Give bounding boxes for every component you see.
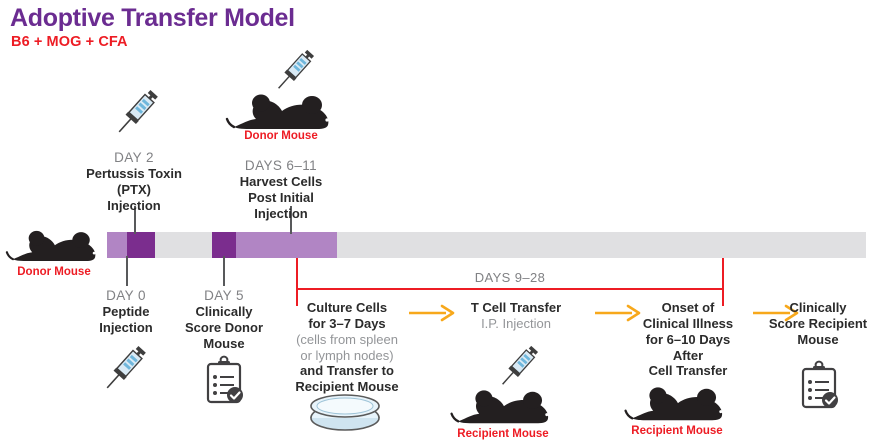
timeline-track [107, 232, 866, 258]
flow-arrow-1 [408, 303, 456, 323]
bracket-crossbar [296, 288, 724, 290]
event-onset-line4: After [626, 348, 750, 364]
mouse-label-donor-start: Donor Mouse [4, 266, 104, 278]
event-score-recipient: Clinically Score Recipient Mouse [768, 300, 868, 348]
event-days611-line1: Harvest Cells [221, 174, 341, 190]
event-culture-note2: or lymph nodes) [288, 348, 406, 364]
event-day5-line1: Clinically [173, 304, 275, 320]
event-transfer-note1: I.P. Injection [452, 316, 580, 332]
event-day2-line2: (PTX) [64, 182, 204, 198]
event-day0-day: DAY 0 [76, 288, 176, 304]
syringe-icon-transfer [496, 340, 540, 392]
event-day5: DAY 5 Clinically Score Donor Mouse [173, 288, 275, 352]
event-day2-line3: Injection [64, 198, 204, 214]
event-day0: DAY 0 Peptide Injection [76, 288, 176, 336]
mouse-icon-recipient-1 [450, 388, 556, 428]
event-onset-line1: Onset of [626, 300, 750, 316]
timeline-segment-light-2 [236, 232, 337, 258]
event-culture-line2: for 3–7 Days [288, 316, 406, 332]
clipboard-check-icon-day5 [203, 355, 245, 405]
mouse-label-recipient-1: Recipient Mouse [450, 428, 556, 440]
event-score-recipient-line3: Mouse [768, 332, 868, 348]
bracket-left-arm [296, 258, 298, 306]
syringe-icon-day2 [112, 84, 160, 140]
mouse-icon-donor-start [6, 228, 102, 266]
page-subtitle: B6 + MOG + CFA [11, 34, 128, 50]
event-day2-day: DAY 2 [64, 150, 204, 166]
timeline-segment-dark-day2 [127, 232, 155, 258]
mouse-label-donor-top: Donor Mouse [226, 130, 336, 142]
page-title: Adoptive Transfer Model [10, 4, 295, 33]
mouse-label-recipient-2: Recipient Mouse [624, 425, 730, 437]
event-culture-note1: (cells from spleen [288, 332, 406, 348]
event-onset-line3: for 6–10 Days [626, 332, 750, 348]
event-days611-line3: Injection [221, 206, 341, 222]
event-score-recipient-line1: Clinically [768, 300, 868, 316]
petri-dish-icon [306, 392, 384, 434]
clipboard-check-icon-recipient [798, 360, 840, 410]
bracket-label: DAYS 9–28 [467, 270, 554, 285]
event-day5-line3: Mouse [173, 336, 275, 352]
bracket-right-arm [722, 258, 724, 306]
event-culture-line3: and Transfer to [288, 363, 406, 379]
event-days611-line2: Post Initial [221, 190, 341, 206]
event-onset: Onset of Clinical Illness for 6–10 Days … [626, 300, 750, 379]
event-score-recipient-line2: Score Recipient [768, 316, 868, 332]
event-day2: DAY 2 Pertussis Toxin (PTX) Injection [64, 150, 204, 214]
connector-day0 [126, 256, 128, 286]
event-days611-day: DAYS 6–11 [221, 158, 341, 174]
event-day2-line1: Pertussis Toxin [64, 166, 204, 182]
event-onset-line5: Cell Transfer [626, 363, 750, 379]
timeline-segment-light-1 [107, 232, 127, 258]
event-transfer-line1: T Cell Transfer [452, 300, 580, 316]
timeline-segment-dark-day5 [212, 232, 236, 258]
event-days611: DAYS 6–11 Harvest Cells Post Initial Inj… [221, 158, 341, 222]
mouse-icon-donor-top [226, 92, 336, 134]
connector-day5 [223, 256, 225, 286]
mouse-icon-recipient-2 [624, 385, 730, 425]
event-day5-day: DAY 5 [173, 288, 275, 304]
event-transfer: T Cell Transfer I.P. Injection [452, 300, 580, 332]
bracket-days-9-28: DAYS 9–28 [296, 258, 724, 306]
syringe-icon-days611 [272, 44, 316, 96]
event-onset-line2: Clinical Illness [626, 316, 750, 332]
diagram-canvas: Adoptive Transfer Model B6 + MOG + CFA D… [0, 0, 870, 447]
event-day5-line2: Score Donor [173, 320, 275, 336]
event-culture-line1: Culture Cells [288, 300, 406, 316]
syringe-icon-day0 [100, 340, 148, 396]
event-day0-line1: Peptide [76, 304, 176, 320]
event-culture: Culture Cells for 3–7 Days (cells from s… [288, 300, 406, 395]
event-day0-line2: Injection [76, 320, 176, 336]
